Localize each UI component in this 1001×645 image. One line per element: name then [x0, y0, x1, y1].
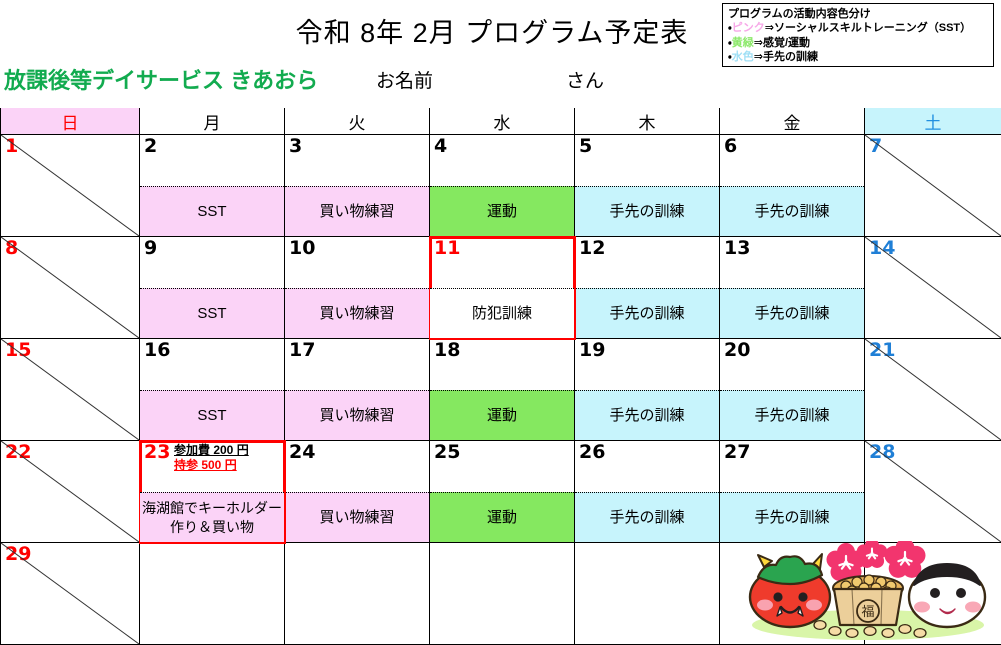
legend-arrow-icon: ⇒ — [765, 22, 774, 34]
day-cell-27[interactable]: 27手先の訓練 — [720, 441, 865, 543]
day-cell-empty[interactable] — [140, 543, 285, 645]
day-cell-empty[interactable] — [575, 543, 720, 645]
legend-item-green: ・黄緑⇒感覚/運動 — [728, 36, 993, 51]
day-cell-11[interactable]: 11防犯訓練 — [430, 237, 575, 339]
day-cell-empty[interactable] — [430, 543, 575, 645]
name-field-suffix: さん — [566, 66, 604, 93]
day-number: 17 — [289, 340, 315, 360]
day-cell-content — [285, 543, 429, 644]
day-cell-content: 19手先の訓練 — [575, 339, 719, 440]
no-service-diagonal-icon — [865, 135, 1001, 236]
day-cell-15[interactable]: 15 — [1, 339, 140, 441]
monthly-schedule-calendar: 日月火水木金土 12SST3買い物練習4運動5手先の訓練6手先の訓練789SST… — [0, 108, 1001, 645]
day-number: 18 — [434, 340, 460, 360]
activity-label[interactable]: 防犯訓練 — [430, 288, 574, 338]
day-cell-17[interactable]: 17買い物練習 — [285, 339, 430, 441]
day-cell-content — [575, 543, 719, 644]
activity-label[interactable]: SST — [140, 186, 284, 236]
activity-label[interactable]: 海湖館でキーホルダー作り＆買い物 — [140, 492, 284, 542]
day-cell-10[interactable]: 10買い物練習 — [285, 237, 430, 339]
day-number: 23 — [144, 442, 170, 462]
weekday-header-row: 日月火水木金土 — [1, 108, 1001, 135]
day-number: 3 — [289, 136, 302, 156]
no-service-diagonal-icon — [1, 135, 139, 236]
day-cell-7[interactable]: 7 — [865, 135, 1001, 237]
day-cell-23[interactable]: 23参加費 200 円持参 500 円海湖館でキーホルダー作り＆買い物 — [140, 441, 285, 543]
legend-desc-green: 感覚/運動 — [763, 37, 810, 49]
day-cell-content: 4運動 — [430, 135, 574, 236]
day-cell-content: 16SST — [140, 339, 284, 440]
activity-label[interactable]: SST — [140, 288, 284, 338]
day-number: 22 — [5, 442, 31, 462]
day-number: 21 — [869, 340, 895, 360]
day-number: 27 — [724, 442, 750, 462]
page-header: 令和 8年 2月 プログラム予定表 放課後等デイサービス きあおら お名前 さん… — [0, 0, 1001, 108]
day-cell-8[interactable]: 8 — [1, 237, 140, 339]
day-cell-empty[interactable] — [865, 543, 1001, 645]
day-number: 7 — [869, 136, 882, 156]
day-cell-content: 13手先の訓練 — [720, 237, 864, 338]
day-cell-content: 21 — [865, 339, 1001, 440]
day-cell-content: 3買い物練習 — [285, 135, 429, 236]
day-cell-25[interactable]: 25運動 — [430, 441, 575, 543]
activity-label[interactable]: 運動 — [430, 186, 574, 236]
day-number: 28 — [869, 442, 895, 462]
calendar-body: 12SST3買い物練習4運動5手先の訓練6手先の訓練789SST10買い物練習1… — [1, 135, 1001, 645]
calendar-week-row: 89SST10買い物練習11防犯訓練12手先の訓練13手先の訓練14 — [1, 237, 1001, 339]
activity-label[interactable]: 手先の訓練 — [575, 186, 719, 236]
day-number: 5 — [579, 136, 592, 156]
weekday-header-wd: 月 — [140, 108, 285, 135]
day-cell-content — [865, 543, 1001, 644]
legend-arrow-icon: ⇒ — [754, 37, 763, 49]
day-cell-content: 1 — [1, 135, 139, 236]
day-cell-20[interactable]: 20手先の訓練 — [720, 339, 865, 441]
day-cell-6[interactable]: 6手先の訓練 — [720, 135, 865, 237]
day-cell-content: 17買い物練習 — [285, 339, 429, 440]
activity-label[interactable]: 買い物練習 — [285, 390, 429, 440]
day-number: 24 — [289, 442, 315, 462]
day-cell-5[interactable]: 5手先の訓練 — [575, 135, 720, 237]
weekday-header-sun: 日 — [1, 108, 140, 135]
day-cell-content: 22 — [1, 441, 139, 542]
day-cell-empty[interactable] — [285, 543, 430, 645]
day-cell-12[interactable]: 12手先の訓練 — [575, 237, 720, 339]
day-number: 10 — [289, 238, 315, 258]
activity-label[interactable]: 手先の訓練 — [720, 390, 864, 440]
weekday-header-wd: 金 — [720, 108, 865, 135]
day-cell-18[interactable]: 18運動 — [430, 339, 575, 441]
legend-title: プログラムの活動内容色分け — [728, 7, 993, 21]
day-number: 9 — [144, 238, 157, 258]
day-cell-content: 26手先の訓練 — [575, 441, 719, 542]
day-cell-content: 12手先の訓練 — [575, 237, 719, 338]
day-number: 8 — [5, 238, 18, 258]
day-cell-content: 6手先の訓練 — [720, 135, 864, 236]
activity-label[interactable]: 買い物練習 — [285, 492, 429, 542]
day-cell-26[interactable]: 26手先の訓練 — [575, 441, 720, 543]
day-cell-21[interactable]: 21 — [865, 339, 1001, 441]
organization-name: 放課後等デイサービス きあおら — [4, 63, 318, 95]
day-cell-content: 14 — [865, 237, 1001, 338]
calendar-week-row: 1516SST17買い物練習18運動19手先の訓練20手先の訓練21 — [1, 339, 1001, 441]
day-number: 13 — [724, 238, 750, 258]
day-cell-2[interactable]: 2SST — [140, 135, 285, 237]
day-number: 15 — [5, 340, 31, 360]
activity-label[interactable]: SST — [140, 390, 284, 440]
activity-label[interactable]: 手先の訓練 — [720, 186, 864, 236]
weekday-header-wd: 水 — [430, 108, 575, 135]
day-cell-content: 29 — [1, 543, 139, 644]
day-note-block: 参加費 200 円持参 500 円 — [174, 443, 281, 473]
day-cell-content — [720, 543, 864, 644]
calendar-week-row: 12SST3買い物練習4運動5手先の訓練6手先の訓練7 — [1, 135, 1001, 237]
legend-color-word-green: 黄緑 — [732, 37, 754, 49]
legend-color-word-cyan: 水色 — [732, 51, 754, 63]
day-cell-3[interactable]: 3買い物練習 — [285, 135, 430, 237]
day-number: 2 — [144, 136, 157, 156]
day-number: 11 — [434, 238, 460, 258]
activity-label[interactable]: 買い物練習 — [285, 186, 429, 236]
day-cell-content: 11防犯訓練 — [430, 237, 574, 338]
day-cell-content: 15 — [1, 339, 139, 440]
legend-color-word-pink: ピンク — [732, 22, 765, 34]
day-note-line: 参加費 200 円 — [174, 443, 281, 458]
day-number: 25 — [434, 442, 460, 462]
day-cell-content: 10買い物練習 — [285, 237, 429, 338]
activity-label[interactable]: 手先の訓練 — [575, 390, 719, 440]
day-cell-content: 20手先の訓練 — [720, 339, 864, 440]
day-number: 12 — [579, 238, 605, 258]
day-number: 26 — [579, 442, 605, 462]
day-cell-1[interactable]: 1 — [1, 135, 140, 237]
weekday-header-wd: 木 — [575, 108, 720, 135]
day-number: 19 — [579, 340, 605, 360]
day-cell-content: 18運動 — [430, 339, 574, 440]
weekday-header-sat: 土 — [865, 108, 1001, 135]
day-cell-14[interactable]: 14 — [865, 237, 1001, 339]
day-number: 1 — [5, 136, 18, 156]
day-cell-28[interactable]: 28 — [865, 441, 1001, 543]
legend-desc-cyan: 手先の訓練 — [763, 51, 818, 63]
day-cell-content: 9SST — [140, 237, 284, 338]
day-cell-content: 28 — [865, 441, 1001, 542]
day-number: 4 — [434, 136, 447, 156]
day-cell-9[interactable]: 9SST — [140, 237, 285, 339]
day-number: 29 — [5, 544, 31, 564]
activity-label[interactable]: 運動 — [430, 390, 574, 440]
no-service-diagonal-icon — [1, 237, 139, 338]
calendar-week-row: 2223参加費 200 円持参 500 円海湖館でキーホルダー作り＆買い物24買… — [1, 441, 1001, 543]
day-cell-content: 24買い物練習 — [285, 441, 429, 542]
day-number: 16 — [144, 340, 170, 360]
page-title: 令和 8年 2月 プログラム予定表 — [282, 11, 702, 50]
day-cell-22[interactable]: 22 — [1, 441, 140, 543]
day-note-line: 持参 500 円 — [174, 458, 281, 473]
activity-label[interactable]: 手先の訓練 — [575, 288, 719, 338]
day-cell-13[interactable]: 13手先の訓練 — [720, 237, 865, 339]
activity-label[interactable]: 手先の訓練 — [720, 288, 864, 338]
day-cell-16[interactable]: 16SST — [140, 339, 285, 441]
day-cell-content — [140, 543, 284, 644]
color-legend: プログラムの活動内容色分け ・ピンク⇒ソーシャルスキルトレーニング（SST） ・… — [722, 3, 994, 67]
day-cell-content: 7 — [865, 135, 1001, 236]
day-number: 14 — [869, 238, 895, 258]
day-cell-content: 27手先の訓練 — [720, 441, 864, 542]
day-cell-19[interactable]: 19手先の訓練 — [575, 339, 720, 441]
activity-label[interactable]: 運動 — [430, 492, 574, 542]
day-number: 20 — [724, 340, 750, 360]
legend-desc-pink: ソーシャルスキルトレーニング（SST） — [774, 22, 971, 34]
activity-label[interactable]: 買い物練習 — [285, 288, 429, 338]
day-cell-content: 2SST — [140, 135, 284, 236]
legend-item-pink: ・ピンク⇒ソーシャルスキルトレーニング（SST） — [728, 21, 993, 36]
legend-item-cyan: ・水色⇒手先の訓練 — [728, 50, 993, 65]
weekday-header-wd: 火 — [285, 108, 430, 135]
day-cell-content: 25運動 — [430, 441, 574, 542]
calendar-week-row: 29 — [1, 543, 1001, 645]
legend-arrow-icon: ⇒ — [754, 51, 763, 63]
activity-label[interactable]: 手先の訓練 — [720, 492, 864, 542]
day-cell-content: 8 — [1, 237, 139, 338]
day-cell-content: 23参加費 200 円持参 500 円海湖館でキーホルダー作り＆買い物 — [140, 441, 284, 542]
day-cell-4[interactable]: 4運動 — [430, 135, 575, 237]
activity-label[interactable]: 手先の訓練 — [575, 492, 719, 542]
day-cell-29[interactable]: 29 — [1, 543, 140, 645]
day-cell-content — [430, 543, 574, 644]
day-cell-empty[interactable] — [720, 543, 865, 645]
name-field-label: お名前 — [376, 66, 433, 93]
day-cell-24[interactable]: 24買い物練習 — [285, 441, 430, 543]
day-number: 6 — [724, 136, 737, 156]
day-cell-content: 5手先の訓練 — [575, 135, 719, 236]
